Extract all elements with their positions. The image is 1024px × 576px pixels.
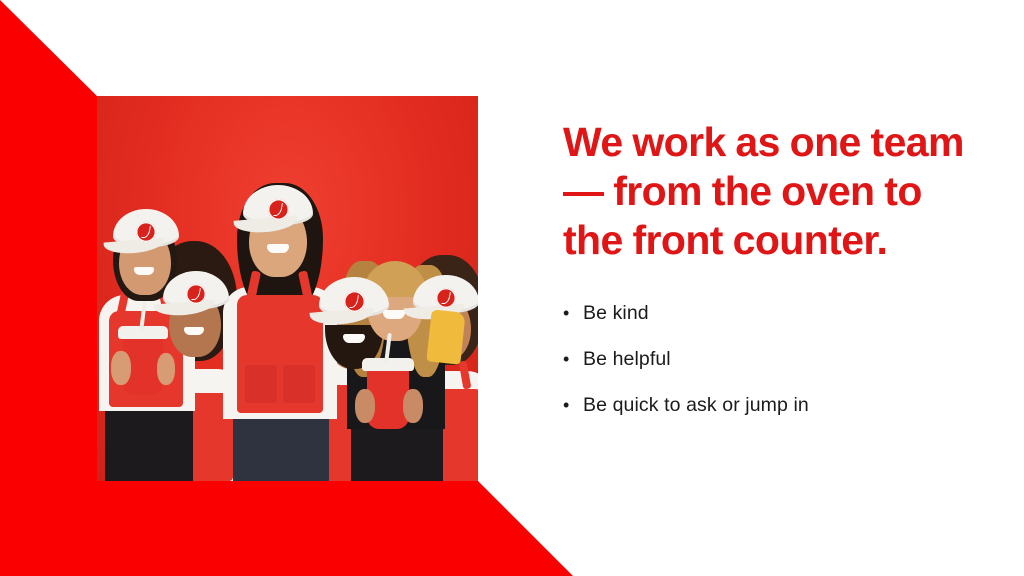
list-item-label: Be helpful — [583, 347, 671, 371]
mouth — [267, 244, 289, 253]
hand — [355, 389, 375, 423]
apron-pocket — [283, 365, 315, 403]
hand — [157, 353, 175, 385]
slide: We work as one team — from the oven to t… — [0, 0, 1024, 576]
cap-logo-icon — [136, 222, 156, 242]
list-item: • Be kind — [563, 301, 983, 325]
list-item-label: Be quick to ask or jump in — [583, 393, 809, 417]
cap-logo-icon — [436, 288, 456, 308]
bullet-marker-icon: • — [563, 393, 583, 417]
hand — [403, 389, 423, 423]
cap-logo-icon — [344, 291, 365, 312]
mouth — [383, 310, 405, 319]
page-title: We work as one team — from the oven to t… — [563, 118, 983, 265]
list-item: • Be quick to ask or jump in — [563, 393, 983, 417]
list-item: • Be helpful — [563, 347, 983, 371]
cap — [113, 209, 179, 247]
mouth — [134, 267, 154, 275]
team-photo — [97, 96, 478, 481]
hand — [111, 351, 131, 385]
mouth — [184, 327, 204, 335]
cloth — [426, 309, 465, 364]
bullet-list: • Be kind • Be helpful • Be quick to ask… — [563, 301, 983, 417]
text-content: We work as one team — from the oven to t… — [563, 118, 983, 439]
cap-logo-icon — [268, 199, 289, 220]
list-item-label: Be kind — [583, 301, 649, 325]
mouth — [343, 334, 365, 343]
apron-pocket — [245, 365, 277, 403]
bullet-marker-icon: • — [563, 347, 583, 371]
cap-logo-icon — [186, 284, 206, 304]
bullet-marker-icon: • — [563, 301, 583, 325]
